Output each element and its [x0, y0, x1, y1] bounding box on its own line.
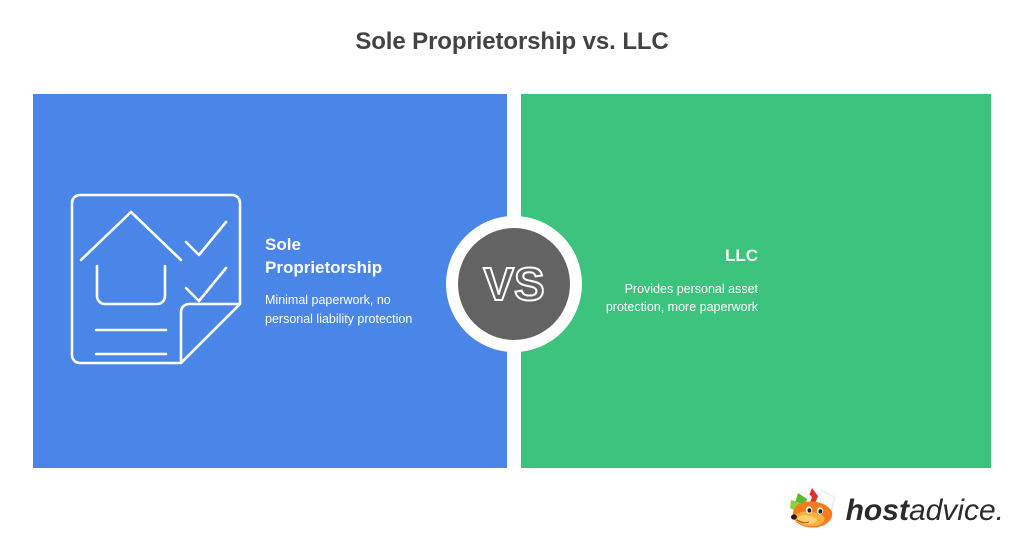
panel-right-text-block: LLC Provides personal asset protection, …: [583, 245, 758, 317]
vs-divider-badge: VS: [446, 216, 582, 352]
logo-word-advice: advice.: [909, 494, 1004, 527]
panel-left-content: Sole Proprietorship Minimal paperwork, n…: [33, 94, 507, 468]
panel-left-text-block: Sole Proprietorship Minimal paperwork, n…: [265, 234, 415, 329]
hostadvice-logo[interactable]: hostadvice.: [787, 486, 1004, 535]
hostadvice-wordmark: hostadvice.: [846, 496, 1004, 526]
panel-right-description: Provides personal asset protection, more…: [583, 280, 758, 317]
vs-label: VS: [483, 261, 544, 307]
fox-mascot-icon: [787, 486, 839, 535]
panel-left-heading: Sole Proprietorship: [265, 234, 415, 280]
panel-right-heading: LLC: [583, 245, 758, 268]
logo-word-host: host: [846, 494, 909, 527]
panel-left-description: Minimal paperwork, no personal liability…: [265, 291, 415, 328]
comparison-panel-llc: LLC Provides personal asset protection, …: [521, 94, 991, 468]
vs-circle: VS: [458, 228, 570, 340]
panel-right-content: LLC Provides personal asset protection, …: [521, 94, 991, 468]
shield-person-icon: [1001, 181, 1024, 381]
page-title: Sole Proprietorship vs. LLC: [0, 28, 1024, 56]
document-house-checklist-icon: [61, 184, 251, 379]
comparison-panel-sole-proprietorship: Sole Proprietorship Minimal paperwork, n…: [33, 94, 507, 468]
